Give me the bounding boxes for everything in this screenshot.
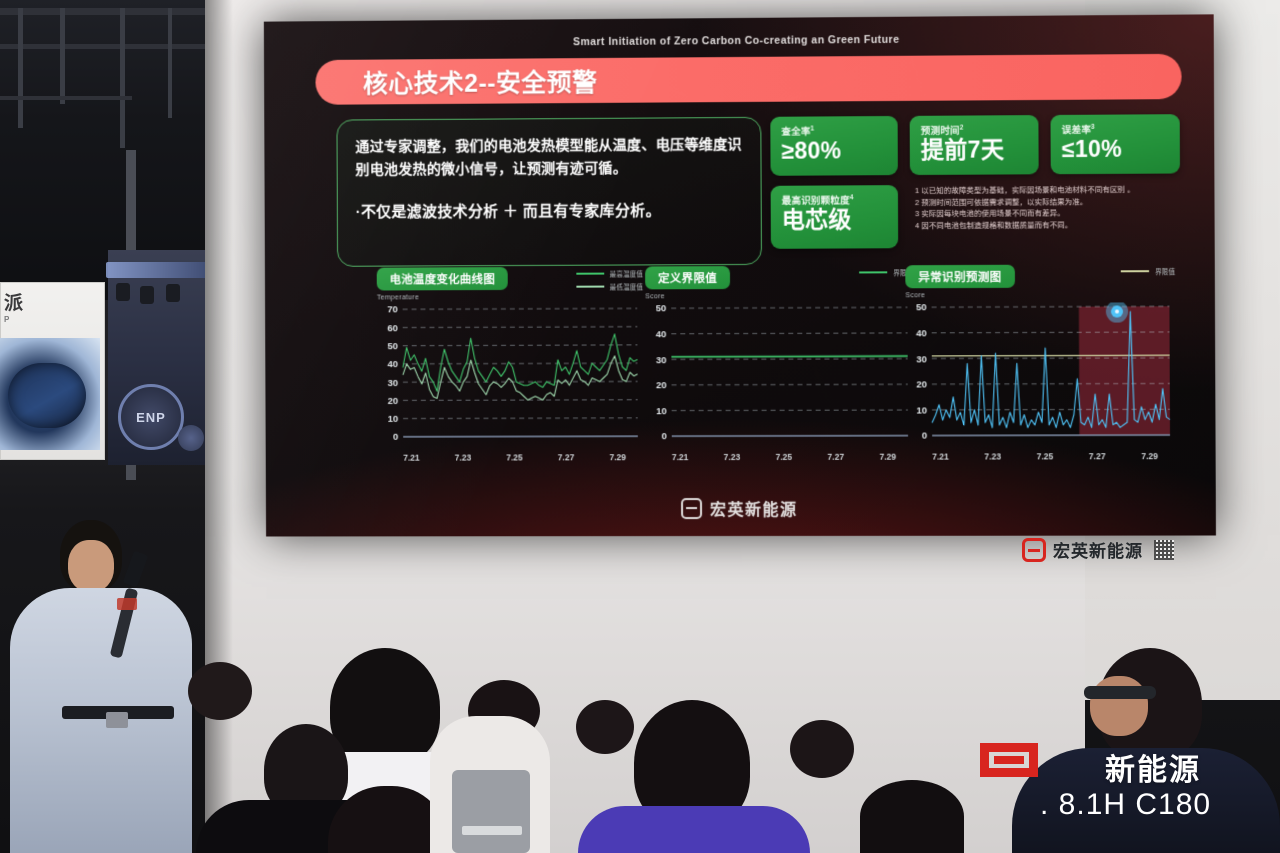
svg-text:30: 30 bbox=[916, 354, 927, 365]
metric-value: ≤10% bbox=[1062, 135, 1169, 162]
wall-shadow bbox=[205, 0, 233, 853]
y-axis-label: Temperature bbox=[377, 294, 419, 301]
charts-row: 电池温度变化曲线图 最高温度值 最低温度值 Temperature 010203… bbox=[265, 260, 1216, 478]
booth-sign-logo bbox=[980, 735, 1042, 785]
description-bullet: ·不仅是滤波技术分析 ＋ 而且有专家库分析。 bbox=[356, 199, 745, 222]
legend-swatch bbox=[576, 286, 604, 288]
audience-face bbox=[1090, 676, 1148, 736]
chart-anomaly-prediction: 异常识别预测图 界限值 Score 01020304050 7.217.237.… bbox=[897, 260, 1190, 477]
svg-text:10: 10 bbox=[656, 406, 667, 417]
description-card: 通过专家调整，我们的电池发热模型能从温度、电压等维度识别电池发热的微小信号，让预… bbox=[336, 117, 762, 267]
description-paragraph: 通过专家调整，我们的电池发热模型能从温度、电压等维度识别电池发热的微小信号，让预… bbox=[355, 134, 744, 182]
svg-text:20: 20 bbox=[656, 380, 667, 391]
legend-swatch bbox=[576, 273, 604, 275]
x-tick-label: 7.23 bbox=[455, 453, 471, 463]
truss-post bbox=[120, 8, 125, 148]
metric-card-recall: 查全率1 ≥80% bbox=[770, 116, 898, 176]
booth-sign-code: . 8.1H C180 bbox=[1040, 788, 1211, 822]
x-tick-label: 7.23 bbox=[724, 452, 741, 462]
svg-text:40: 40 bbox=[387, 359, 398, 370]
metric-footnote-ref: 1 bbox=[811, 125, 815, 132]
chart-battery-temperature: 电池温度变化曲线图 最高温度值 最低温度值 Temperature 010203… bbox=[369, 262, 658, 477]
presenter-face bbox=[68, 540, 114, 592]
chart-plot-area: 01020304050 bbox=[905, 302, 1176, 449]
chart-title: 异常识别预测图 bbox=[918, 268, 1001, 284]
chart-plot-area: 010203040506070 bbox=[377, 304, 644, 450]
enp-logo: ENP bbox=[118, 384, 184, 450]
eyeglasses bbox=[1084, 686, 1156, 699]
legend-item: 界限值 bbox=[1121, 266, 1176, 276]
audience-head bbox=[790, 720, 854, 778]
svg-text:20: 20 bbox=[388, 396, 399, 407]
footnotes: 1 以已知的故障类型为基础，实际因场景和电池材料不同有区别 。 2 预测时间范围… bbox=[915, 184, 1181, 232]
booth-light-strip bbox=[106, 262, 208, 278]
audience-head bbox=[188, 662, 252, 720]
spotlight bbox=[116, 283, 130, 301]
audience-body bbox=[578, 806, 810, 853]
spotlight bbox=[166, 284, 180, 302]
metric-label: 最高识别颗粒度4 bbox=[782, 192, 887, 207]
chart-legend: 界限值 bbox=[1121, 266, 1176, 279]
ceiling-truss bbox=[0, 8, 210, 15]
spotlight bbox=[140, 286, 154, 304]
audience-head bbox=[576, 700, 634, 754]
presentation-slide: Smart Initiation of Zero Carbon Co-creat… bbox=[264, 14, 1216, 536]
svg-text:40: 40 bbox=[916, 328, 927, 339]
slide-brand-logo: 宏英新能源 bbox=[681, 496, 798, 520]
x-tick-label: 7.29 bbox=[879, 452, 896, 462]
presenter-belt-buckle bbox=[106, 712, 128, 728]
metric-label: 查全率1 bbox=[781, 123, 886, 138]
x-tick-label: 7.23 bbox=[984, 451, 1001, 461]
left-booth-product-image bbox=[0, 338, 100, 450]
metric-label: 误差率3 bbox=[1062, 121, 1169, 136]
ceiling-truss bbox=[0, 44, 210, 49]
svg-text:50: 50 bbox=[656, 304, 667, 315]
metric-footnote-ref: 2 bbox=[960, 124, 964, 131]
x-tick-label: 7.27 bbox=[558, 452, 575, 462]
metric-footnote-ref: 4 bbox=[850, 194, 854, 201]
svg-text:0: 0 bbox=[661, 432, 666, 443]
legend-label: 界限值 bbox=[1155, 266, 1175, 276]
truss-post bbox=[18, 8, 23, 128]
metric-value: ≥80% bbox=[781, 137, 886, 164]
x-axis-ticks: 7.217.237.257.277.29 bbox=[377, 452, 643, 463]
x-tick-label: 7.21 bbox=[672, 452, 689, 462]
y-axis-label: Score bbox=[905, 292, 925, 299]
svg-text:0: 0 bbox=[393, 432, 398, 443]
svg-text:60: 60 bbox=[387, 323, 398, 334]
metric-value: 电芯级 bbox=[782, 206, 887, 233]
slide-eyebrow: Smart Initiation of Zero Carbon Co-creat… bbox=[264, 31, 1214, 50]
presenter-body bbox=[10, 588, 192, 853]
wall-brand-text: 宏英新能源 bbox=[1053, 537, 1143, 562]
handbag-label bbox=[462, 826, 522, 835]
x-tick-label: 7.27 bbox=[1089, 451, 1106, 461]
chart-title: 电池温度变化曲线图 bbox=[390, 271, 495, 287]
svg-text:50: 50 bbox=[916, 303, 927, 314]
chart-plot-area: 01020304050 bbox=[645, 303, 914, 450]
page-title: 核心技术2--安全预警 bbox=[363, 62, 598, 99]
svg-text:20: 20 bbox=[916, 380, 927, 391]
wall-brand-logo: 宏英新能源 bbox=[1022, 537, 1174, 562]
enp-logo-dot bbox=[178, 425, 204, 451]
audience-head bbox=[860, 780, 964, 853]
x-tick-label: 7.25 bbox=[775, 452, 792, 462]
metric-card-error-rate: 误差率3 ≤10% bbox=[1050, 114, 1179, 174]
y-axis-label: Score bbox=[645, 293, 665, 300]
screenshot-root: 派P ENP Smart Initiation of Zero Carbon C… bbox=[0, 0, 1280, 853]
footnote-item: 4 因不同电池包制造规格和数据质量而有不同。 bbox=[915, 219, 1181, 232]
x-tick-label: 7.27 bbox=[827, 452, 844, 462]
legend-item: 最高温度值 bbox=[576, 268, 643, 278]
left-booth-brand: 派P bbox=[4, 288, 23, 324]
ceiling-truss bbox=[0, 96, 132, 100]
chart-title-chip: 定义界限值 bbox=[645, 266, 730, 289]
handbag bbox=[452, 770, 530, 853]
svg-text:30: 30 bbox=[656, 355, 667, 366]
metric-card-granularity: 最高识别颗粒度4 电芯级 bbox=[771, 185, 899, 249]
slide-brand-text: 宏英新能源 bbox=[710, 496, 798, 520]
x-tick-label: 7.21 bbox=[932, 452, 949, 462]
legend-item: 最低温度值 bbox=[576, 281, 643, 291]
left-booth-sub: P bbox=[4, 315, 23, 324]
metric-label: 预测时间2 bbox=[921, 122, 1028, 137]
chart-title: 定义界限值 bbox=[658, 270, 717, 286]
x-tick-label: 7.21 bbox=[403, 453, 419, 463]
enp-logo-text: ENP bbox=[136, 410, 166, 425]
svg-text:50: 50 bbox=[387, 341, 398, 352]
x-tick-label: 7.25 bbox=[1037, 451, 1054, 461]
svg-text:30: 30 bbox=[387, 378, 398, 389]
svg-text:70: 70 bbox=[387, 305, 398, 316]
audience-head bbox=[330, 648, 440, 766]
legend-swatch bbox=[859, 271, 887, 273]
metric-value: 提前7天 bbox=[921, 136, 1028, 163]
legend-swatch bbox=[1121, 270, 1149, 272]
svg-text:0: 0 bbox=[922, 431, 927, 442]
slide-title-banner: 核心技术2--安全预警 bbox=[315, 54, 1181, 105]
hongying-logo-icon bbox=[681, 498, 702, 519]
truss-post bbox=[60, 8, 65, 104]
truss-post bbox=[168, 8, 172, 118]
svg-text:40: 40 bbox=[656, 329, 667, 340]
x-axis-ticks: 7.217.237.257.277.29 bbox=[646, 452, 914, 463]
x-axis-ticks: 7.217.237.257.277.29 bbox=[906, 451, 1176, 462]
presenter-badge bbox=[117, 598, 137, 610]
svg-text:10: 10 bbox=[388, 414, 399, 425]
chart-legend: 最高温度值 最低温度值 bbox=[576, 268, 643, 294]
x-tick-label: 7.25 bbox=[506, 452, 522, 462]
x-tick-label: 7.29 bbox=[1141, 451, 1158, 461]
svg-text:10: 10 bbox=[916, 405, 927, 416]
chart-title-chip: 电池温度变化曲线图 bbox=[377, 267, 508, 290]
x-tick-label: 7.29 bbox=[609, 452, 626, 462]
chart-threshold-definition: 定义界限值 界限值 Score 01020304050 7.217.237.25… bbox=[637, 261, 928, 477]
qr-code-icon bbox=[1154, 540, 1174, 560]
hongying-logo-icon bbox=[1022, 538, 1046, 562]
chart-title-chip: 异常识别预测图 bbox=[905, 265, 1014, 289]
metric-card-lead-time: 预测时间2 提前7天 bbox=[910, 115, 1039, 175]
metric-footnote-ref: 3 bbox=[1091, 124, 1095, 131]
booth-sign-brand: 新能源 bbox=[1105, 745, 1201, 789]
